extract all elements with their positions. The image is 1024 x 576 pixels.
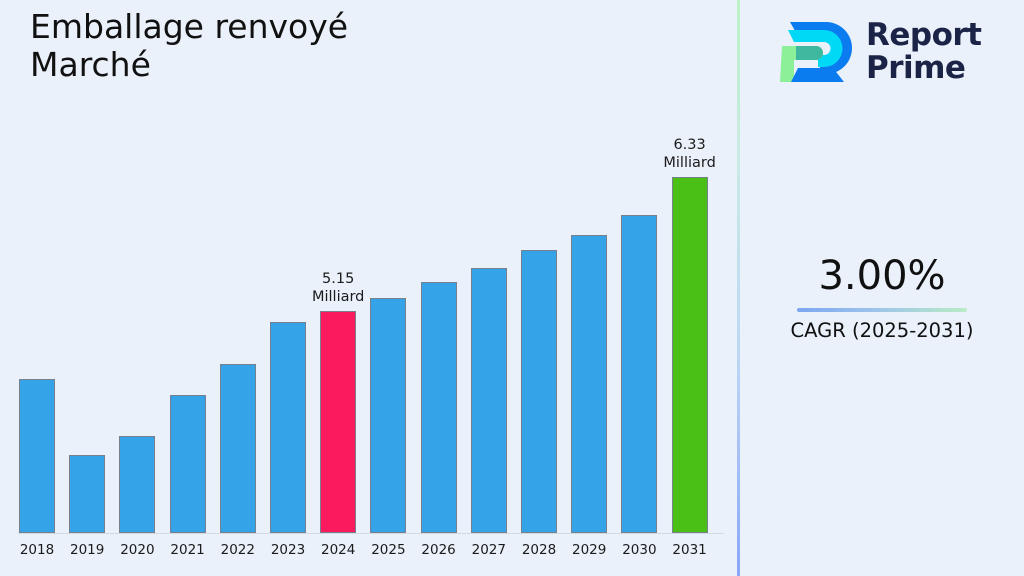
bar-2020 <box>119 436 155 533</box>
x-tick-2029: 2029 <box>562 541 616 559</box>
report-prime-logo-icon <box>778 16 854 88</box>
x-tick-2023: 2023 <box>261 541 315 559</box>
bar-2024 <box>320 311 356 533</box>
chart-page: Emballage renvoyé Marché 201820192020202… <box>0 0 1024 576</box>
x-tick-2028: 2028 <box>512 541 566 559</box>
bar-2023 <box>270 322 306 533</box>
cagr-block: 3.00% CAGR (2025-2031) <box>740 252 1024 344</box>
x-tick-2021: 2021 <box>161 541 215 559</box>
x-tick-2018: 2018 <box>10 541 64 559</box>
bar-2021 <box>170 395 206 533</box>
brand-wordmark: Report Prime <box>866 19 982 85</box>
cagr-divider <box>797 308 967 312</box>
bar-2019 <box>69 455 105 533</box>
brand-logo: Report Prime <box>778 12 1008 92</box>
brand-panel: Report Prime 3.00% CAGR (2025-2031) <box>740 0 1024 576</box>
bar-2026 <box>421 282 457 533</box>
x-tick-2024: 2024 <box>311 541 365 559</box>
cagr-caption: CAGR (2025-2031) <box>740 318 1024 344</box>
x-tick-2022: 2022 <box>211 541 265 559</box>
bar-2029 <box>571 235 607 533</box>
bar-value-label-2031: 6.33 Milliard <box>650 136 730 172</box>
chart-panel: Emballage renvoyé Marché 201820192020202… <box>0 0 738 576</box>
bar-2030 <box>621 215 657 533</box>
x-tick-2030: 2030 <box>612 541 666 559</box>
bar-2025 <box>370 298 406 533</box>
bar-chart-plot: 2018201920202021202220232024202520262027… <box>0 0 738 576</box>
x-tick-2019: 2019 <box>60 541 114 559</box>
x-tick-2027: 2027 <box>462 541 516 559</box>
bar-2022 <box>220 364 256 533</box>
bar-2018 <box>19 379 55 533</box>
x-tick-2026: 2026 <box>412 541 466 559</box>
x-tick-2031: 2031 <box>663 541 717 559</box>
x-tick-2025: 2025 <box>361 541 415 559</box>
bar-2027 <box>471 268 507 533</box>
bar-2031 <box>672 177 708 533</box>
x-tick-2020: 2020 <box>110 541 164 559</box>
x-axis-line <box>18 533 724 534</box>
bar-2028 <box>521 250 557 533</box>
cagr-value: 3.00% <box>740 252 1024 300</box>
bar-value-label-2024: 5.15 Milliard <box>298 270 378 306</box>
